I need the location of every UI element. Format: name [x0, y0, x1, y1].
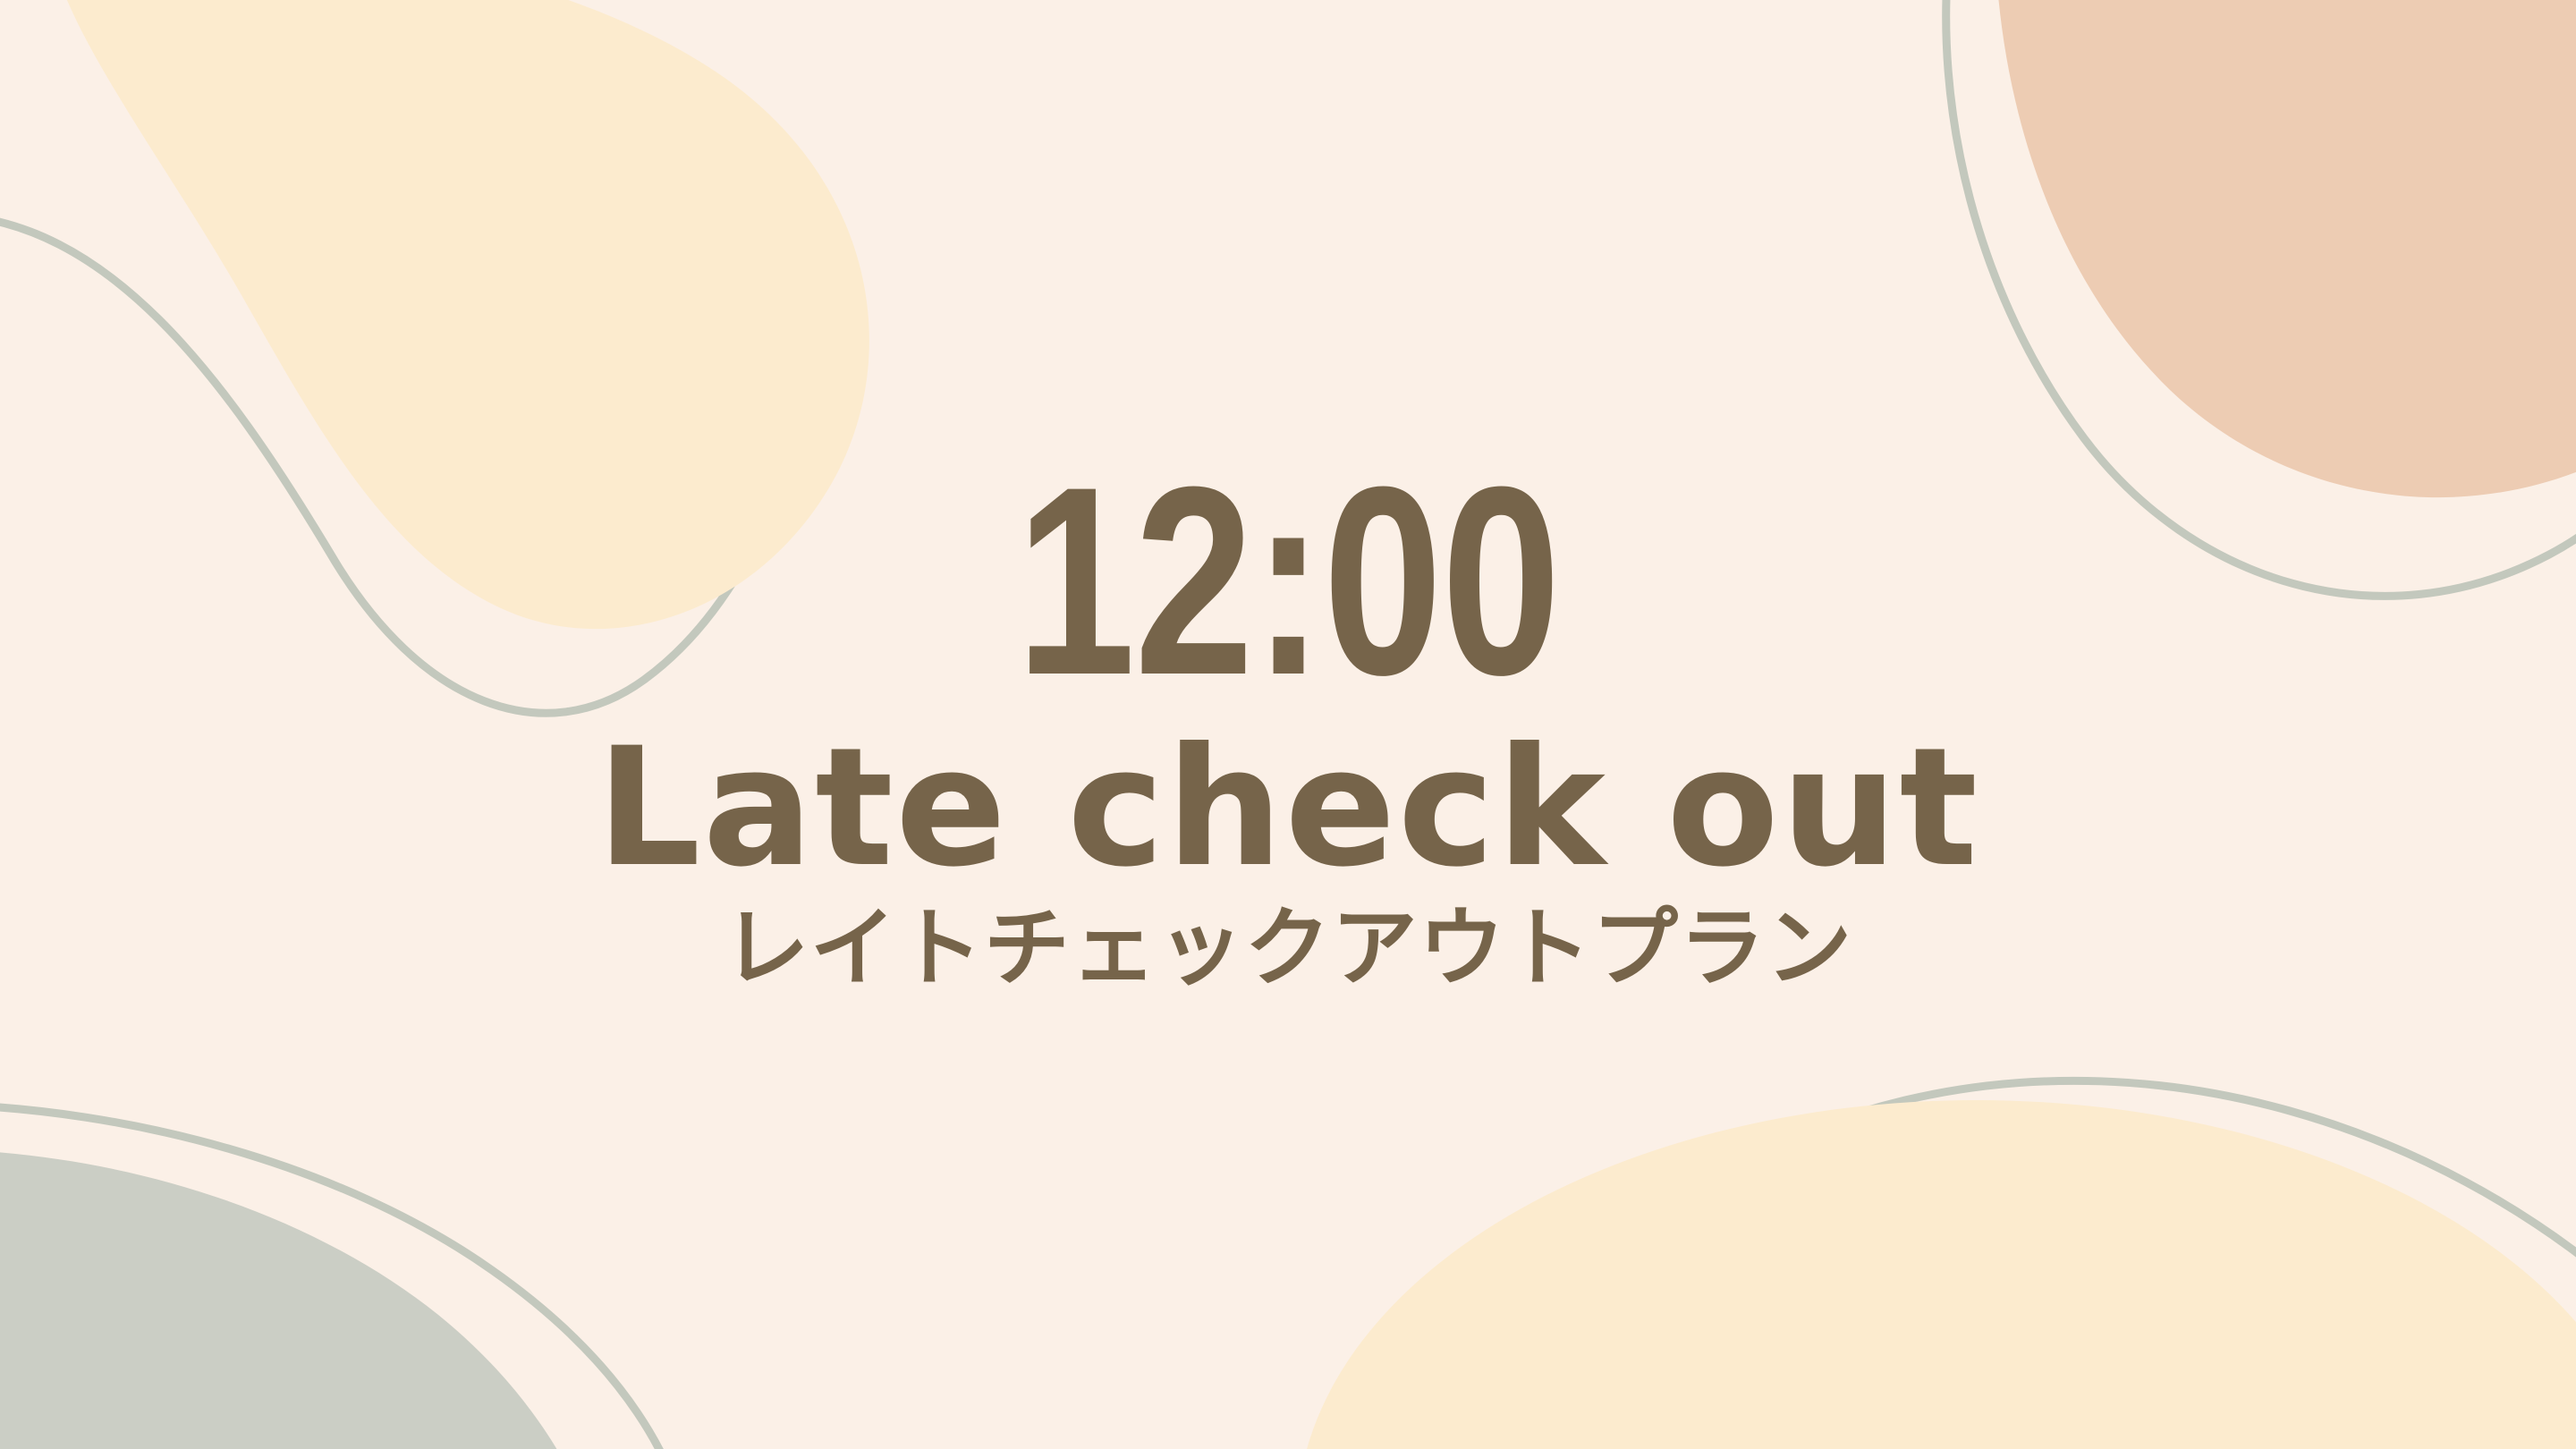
plan-title-english: Late check out — [597, 722, 1979, 895]
poster-content: 12:00 Late check out レイトチェックアウトプラン — [0, 0, 2576, 1449]
checkout-time: 12:00 — [1016, 452, 1560, 709]
poster-canvas: 12:00 Late check out レイトチェックアウトプラン — [0, 0, 2576, 1449]
plan-title-japanese: レイトチェックアウトプラン — [724, 901, 1853, 997]
